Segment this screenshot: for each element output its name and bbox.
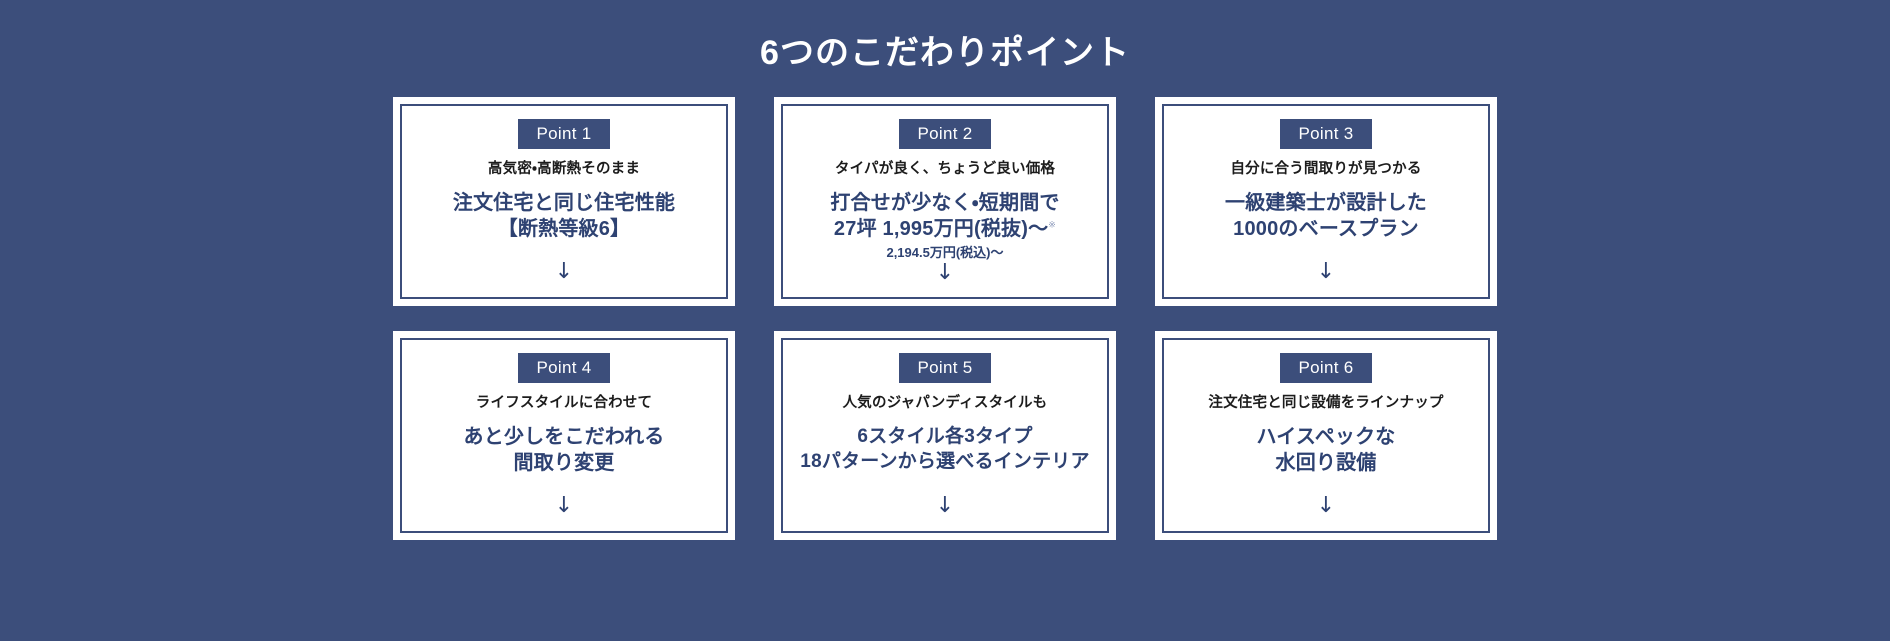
point-headline-4-line2: 間取り変更 [464, 450, 665, 477]
point-card-6-inner: Point 6 注文住宅と同じ設備をラインナップ ハイスペックな 水回り設備 ↓ [1162, 338, 1490, 533]
point-headline-6-line2: 水回り設備 [1257, 450, 1396, 477]
point-card-4-inner: Point 4 ライフスタイルに合わせて あと少しをこだわれる 間取り変更 ↓ [400, 338, 728, 533]
point-card-1[interactable]: Point 1 高気密・高断熱そのまま 注文住宅と同じ住宅性能 【断熱等級6】 … [393, 97, 735, 306]
point-headline-6-line1: ハイスペックな [1257, 424, 1396, 451]
point-note-2: 2,194.5万円(税込)〜 [886, 245, 1003, 261]
point-headline-3-line2: 1000のベースプラン [1225, 216, 1427, 243]
point-subtitle-4: ライフスタイルに合わせて [476, 394, 652, 413]
point-headline-4: あと少しをこだわれる 間取り変更 [464, 424, 665, 477]
point-subtitle-3: 自分に合う間取りが見つかる [1230, 160, 1421, 179]
point-card-2[interactable]: Point 2 タイパが良く、ちょうど良い価格 打合せが少なく・短期間で 27坪… [774, 97, 1116, 306]
point-card-5[interactable]: Point 5 人気のジャパンディスタイルも 6スタイル各3タイプ 18パターン… [774, 331, 1116, 540]
point-badge-4: Point 4 [518, 353, 609, 383]
point-badge-2: Point 2 [899, 119, 990, 149]
point-card-3-inner: Point 3 自分に合う間取りが見つかる 一級建築士が設計した 1000のベー… [1162, 104, 1490, 299]
down-arrow-icon: ↓ [555, 495, 573, 517]
down-arrow-icon: ↓ [555, 261, 573, 283]
point-headline-5-line1: 6スタイル各3タイプ [800, 424, 1089, 449]
point-headline-1-line2: 【断熱等級6】 [453, 216, 675, 243]
points-grid: Point 1 高気密・高断熱そのまま 注文住宅と同じ住宅性能 【断熱等級6】 … [393, 74, 1497, 540]
point-headline-1: 注文住宅と同じ住宅性能 【断熱等級6】 [453, 190, 675, 243]
point-card-6[interactable]: Point 6 注文住宅と同じ設備をラインナップ ハイスペックな 水回り設備 ↓ [1155, 331, 1497, 540]
point-badge-5: Point 5 [899, 353, 990, 383]
point-headline-4-line1: あと少しをこだわれる [464, 424, 665, 451]
down-arrow-icon: ↓ [1317, 495, 1335, 517]
point-headline-2: 打合せが少なく・短期間で 27坪 1,995万円(税抜)〜※ [830, 190, 1059, 243]
point-headline-2-line1: 打合せが少なく・短期間で [830, 190, 1059, 217]
point-headline-1-line1: 注文住宅と同じ住宅性能 [453, 190, 675, 217]
down-arrow-icon: ↓ [1317, 261, 1335, 283]
point-headline-5-line2: 18パターンから選べるインテリア [800, 449, 1089, 474]
asterisk-note-icon: ※ [1048, 220, 1056, 230]
point-subtitle-1: 高気密・高断熱そのまま [488, 160, 640, 179]
point-subtitle-2: タイパが良く、ちょうど良い価格 [835, 160, 1055, 179]
point-card-1-inner: Point 1 高気密・高断熱そのまま 注文住宅と同じ住宅性能 【断熱等級6】 … [400, 104, 728, 299]
point-card-2-inner: Point 2 タイパが良く、ちょうど良い価格 打合せが少なく・短期間で 27坪… [781, 104, 1109, 299]
point-card-5-inner: Point 5 人気のジャパンディスタイルも 6スタイル各3タイプ 18パターン… [781, 338, 1109, 533]
point-badge-1: Point 1 [518, 119, 609, 149]
down-arrow-icon: ↓ [936, 495, 954, 517]
point-badge-3: Point 3 [1280, 119, 1371, 149]
point-subtitle-5: 人気のジャパンディスタイルも [843, 394, 1048, 413]
point-card-4[interactable]: Point 4 ライフスタイルに合わせて あと少しをこだわれる 間取り変更 ↓ [393, 331, 735, 540]
point-headline-5: 6スタイル各3タイプ 18パターンから選べるインテリア [800, 424, 1089, 475]
page-title: 6つのこだわりポイント [0, 0, 1890, 74]
point-badge-6: Point 6 [1280, 353, 1371, 383]
point-headline-2-line2: 27坪 1,995万円(税抜)〜※ [830, 216, 1059, 243]
points-section: 6つのこだわりポイント Point 1 高気密・高断熱そのまま 注文住宅と同じ住… [0, 0, 1890, 641]
point-headline-3: 一級建築士が設計した 1000のベースプラン [1225, 190, 1427, 243]
point-card-3[interactable]: Point 3 自分に合う間取りが見つかる 一級建築士が設計した 1000のベー… [1155, 97, 1497, 306]
point-headline-6: ハイスペックな 水回り設備 [1257, 424, 1396, 477]
point-headline-3-line1: 一級建築士が設計した [1225, 190, 1427, 217]
point-subtitle-6: 注文住宅と同じ設備をラインナップ [1208, 394, 1443, 413]
point-headline-2-price: 27坪 1,995万円(税抜)〜 [834, 218, 1048, 240]
down-arrow-icon: ↓ [936, 262, 954, 284]
